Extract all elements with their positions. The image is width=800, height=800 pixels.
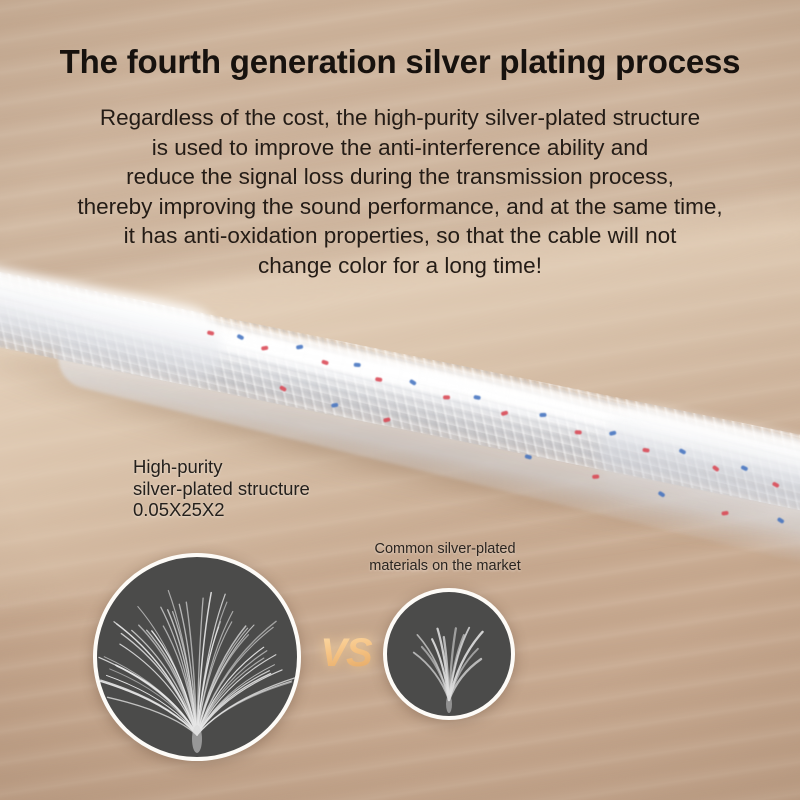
premium-structure-label: High-purity silver-plated structure 0.05…	[133, 456, 310, 521]
premium-label-line: silver-plated structure	[133, 478, 310, 500]
common-fiber-circle	[383, 588, 515, 720]
common-label-line: Common silver-plated	[345, 541, 545, 558]
premium-fiber-fan-icon	[97, 557, 297, 757]
page-title: The fourth generation silver plating pro…	[0, 42, 800, 82]
description-line: reduce the signal loss during the transm…	[0, 162, 800, 192]
description-line: is used to improve the anti-interference…	[0, 133, 800, 163]
fiber-strand	[116, 665, 197, 735]
common-fiber-fan-icon	[387, 592, 511, 716]
description-paragraph: Regardless of the cost, the high-purity …	[0, 103, 800, 280]
description-line: thereby improving the sound performance,…	[0, 192, 800, 222]
fiber-strand	[117, 666, 197, 735]
premium-label-line: High-purity	[133, 456, 310, 478]
headline-block: The fourth generation silver plating pro…	[0, 42, 800, 82]
description-line: it has anti-oxidation properties, so tha…	[0, 221, 800, 251]
premium-label-line: 0.05X25X2	[133, 499, 310, 521]
versus-badge: VS	[311, 629, 381, 677]
product-feature-graphic: The fourth generation silver plating pro…	[0, 0, 800, 800]
description-line: change color for a long time!	[0, 251, 800, 281]
premium-fiber-circle	[93, 553, 301, 761]
common-material-label: Common silver-plated materials on the ma…	[345, 541, 545, 574]
description-line: Regardless of the cost, the high-purity …	[0, 103, 800, 133]
common-label-line: materials on the market	[345, 558, 545, 575]
